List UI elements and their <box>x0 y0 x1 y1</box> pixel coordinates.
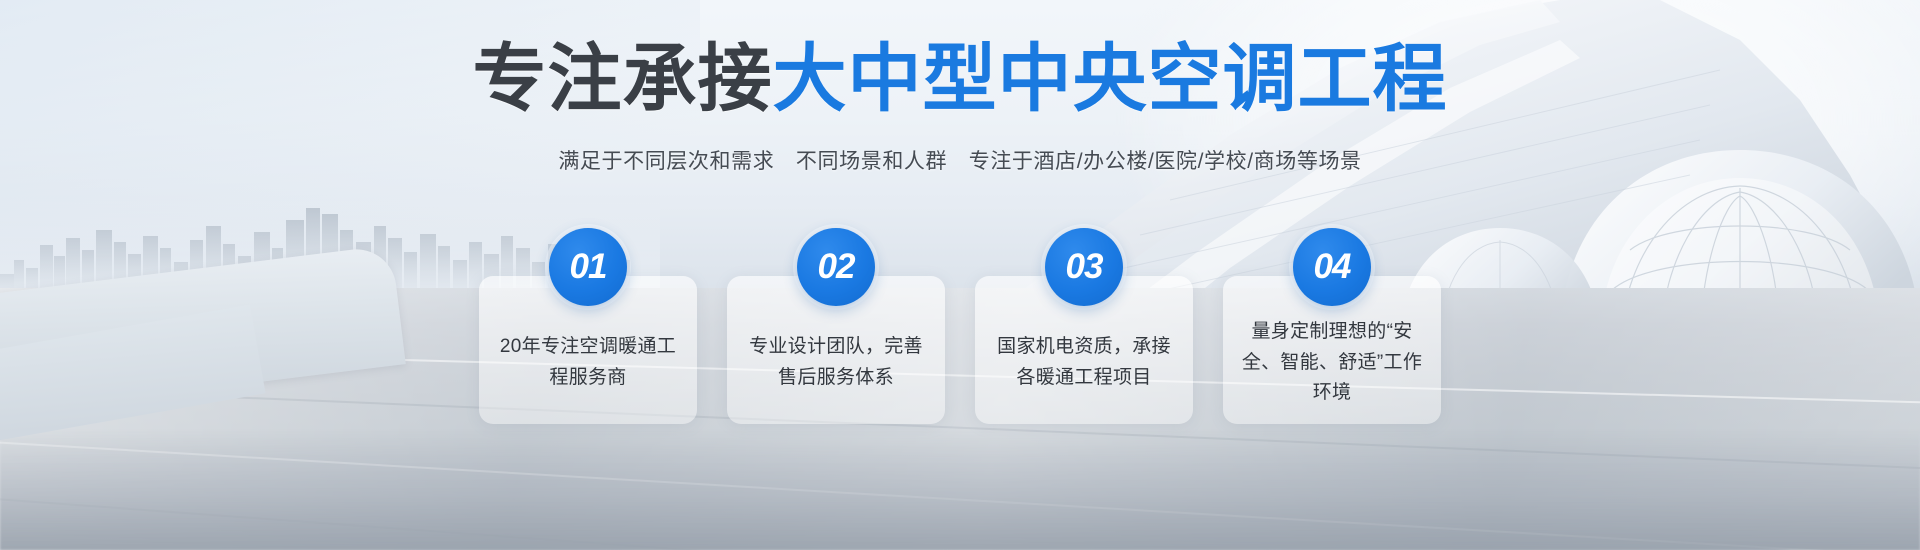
card-text: 量身定制理想的“安全、智能、舒适”工作环境 <box>1241 291 1423 409</box>
promo-banner: 专注承接大中型中央空调工程 满足于不同层次和需求 不同场景和人群 专注于酒店/办… <box>0 0 1920 550</box>
card-number-badge: 02 <box>797 228 875 306</box>
feature-card[interactable]: 02 专业设计团队，完善售后服务体系 <box>727 228 945 428</box>
card-text: 国家机电资质，承接各暖通工程项目 <box>993 306 1175 394</box>
title-dark-segment: 专注承接 <box>473 37 773 120</box>
title-blue-segment: 大中型中央空调工程 <box>773 37 1448 120</box>
card-number-badge: 01 <box>549 228 627 306</box>
feature-card-list: 01 20年专注空调暖通工程服务商 02 专业设计团队，完善售后服务体系 03 … <box>0 228 1920 458</box>
card-number-badge: 03 <box>1045 228 1123 306</box>
banner-content: 专注承接大中型中央空调工程 满足于不同层次和需求 不同场景和人群 专注于酒店/办… <box>0 0 1920 550</box>
page-title: 专注承接大中型中央空调工程 <box>0 42 1920 116</box>
feature-card[interactable]: 03 国家机电资质，承接各暖通工程项目 <box>975 228 1193 428</box>
card-text: 专业设计团队，完善售后服务体系 <box>745 306 927 394</box>
banner-subtitle: 满足于不同层次和需求 不同场景和人群 专注于酒店/办公楼/医院/学校/商场等场景 <box>0 145 1920 175</box>
feature-card[interactable]: 01 20年专注空调暖通工程服务商 <box>479 228 697 428</box>
feature-card[interactable]: 04 量身定制理想的“安全、智能、舒适”工作环境 <box>1223 228 1441 428</box>
card-text: 20年专注空调暖通工程服务商 <box>497 306 679 394</box>
card-number-badge: 04 <box>1293 228 1371 306</box>
